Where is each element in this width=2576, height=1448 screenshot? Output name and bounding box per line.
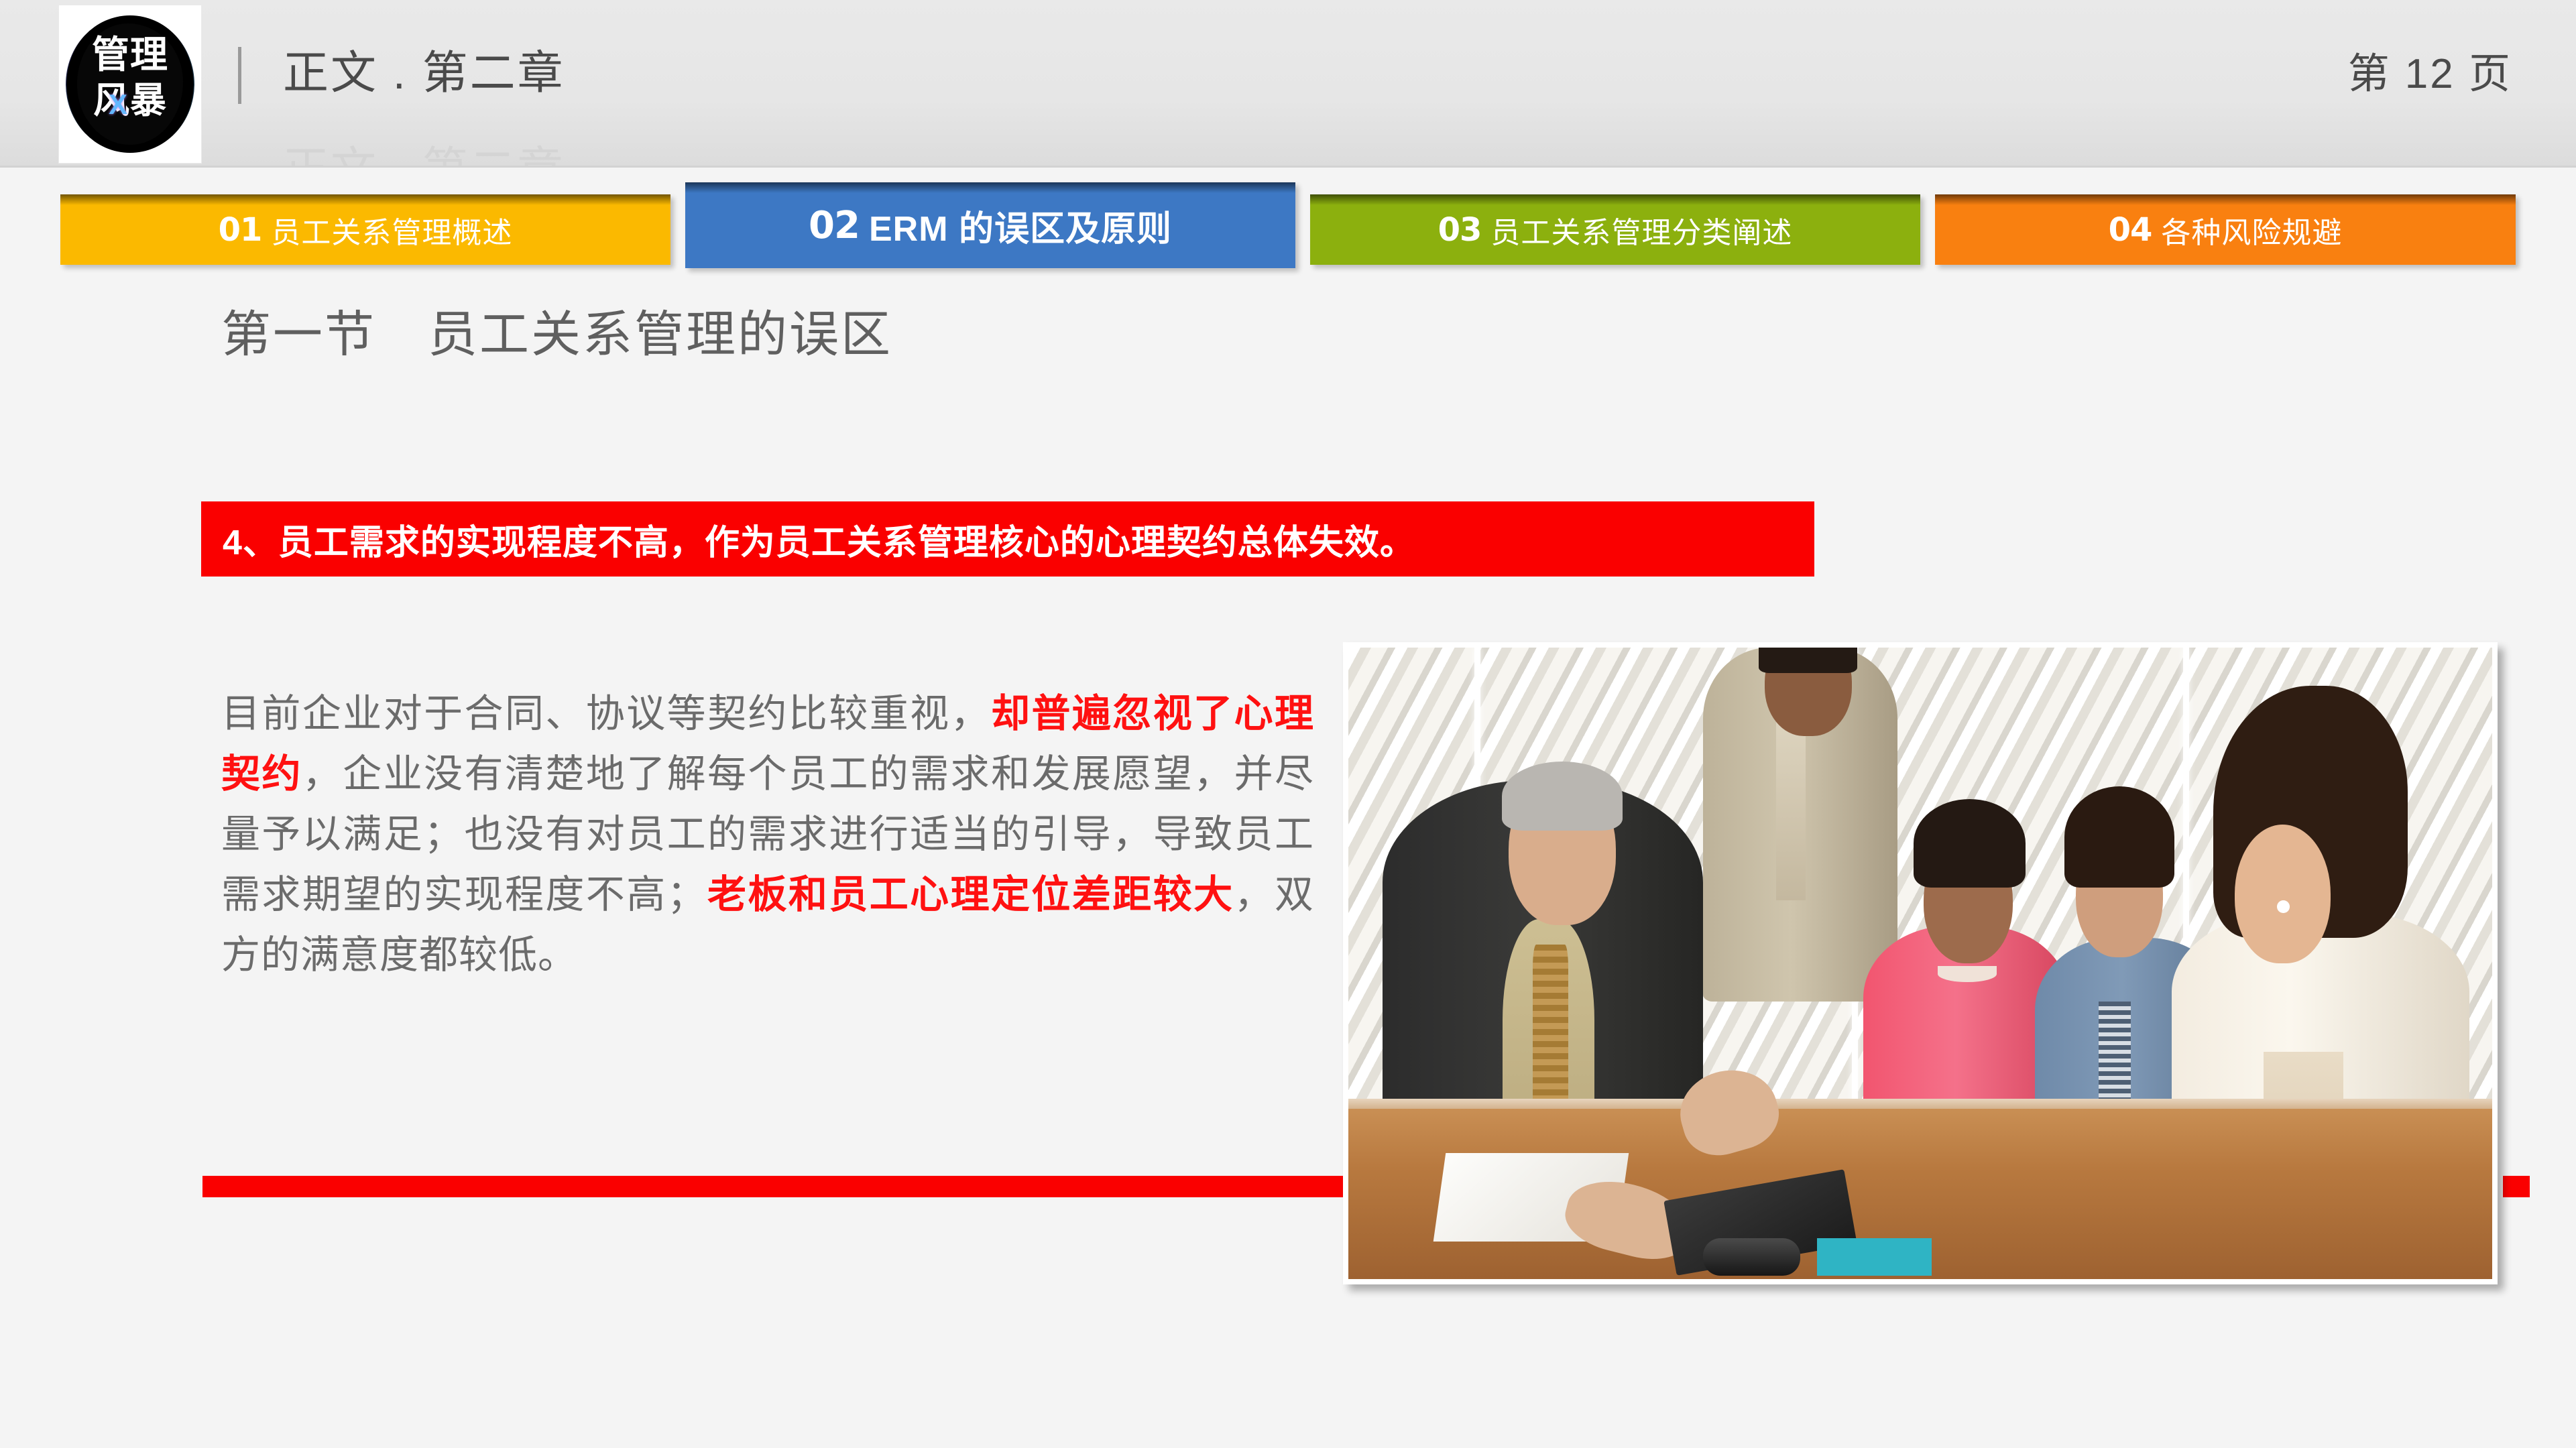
body-paragraph: 目前企业对于合同、协议等契约比较重视，却普遍忽视了心理契约，企业没有清楚地了解每…: [221, 684, 1314, 985]
tab-employee-relations-overview[interactable]: 01 员工关系管理概述: [60, 194, 670, 265]
logo-text-line1: 管理: [66, 37, 194, 74]
tab-number: 02: [809, 204, 860, 247]
teal-notepad: [1817, 1238, 1932, 1276]
tab-number: 03: [1438, 211, 1482, 249]
logo-x-mark-icon: X: [109, 90, 131, 117]
earring: [2277, 900, 2290, 913]
tab-risk-avoidance[interactable]: 04 各种风险规避: [1935, 194, 2516, 265]
tab-erm-pitfalls-principles[interactable]: 02 ERM 的误区及原则: [685, 182, 1295, 268]
header-divider: [238, 47, 241, 104]
tab-label: 各种风险规避: [2161, 208, 2342, 251]
header-title-ghost: 正文 . 第二章: [283, 146, 565, 168]
meeting-photo-frame: [1343, 642, 2498, 1284]
tab-number: 01: [219, 211, 262, 249]
body-text-highlight: 老板和员工心理定位差距较大: [707, 873, 1234, 916]
necktie-khaki: [1776, 711, 1806, 900]
slide-header: 管理 风暴 X 正文 . 第二章 正文 . 第二章 第 12 页: [0, 0, 2576, 168]
meeting-photo: [1348, 648, 2492, 1279]
body-text-run: 目前企业对于合同、协议等契约比较重视，: [221, 692, 991, 735]
tab-label: 员工关系管理分类阐述: [1490, 208, 1792, 251]
section-title: 第一节 员工关系管理的误区: [221, 305, 892, 365]
hair-standing-khaki: [1759, 648, 1857, 673]
head-seated-cream: [2235, 825, 2331, 963]
logo-circle-icon: 管理 风暴 X: [66, 15, 194, 153]
chapter-tabstrip: 01 员工关系管理概述 02 ERM 的误区及原则 03 员工关系管理分类阐述 …: [0, 168, 2576, 268]
tab-classification-explained[interactable]: 03 员工关系管理分类阐述: [1310, 194, 1920, 265]
tab-label: ERM 的误区及原则: [869, 200, 1172, 251]
page-number-label: 第 12 页: [2348, 54, 2512, 95]
bottom-rule-right: [2503, 1176, 2530, 1197]
header-title: 正文 . 第二章: [283, 50, 565, 96]
bottom-rule-left: [202, 1176, 1346, 1197]
mobile-phone: [1703, 1238, 1800, 1276]
tab-label: 员工关系管理概述: [271, 208, 512, 251]
point-banner-text: 4、员工需求的实现程度不高，作为员工关系管理核心的心理契约总体失效。: [201, 514, 1415, 564]
brand-logo[interactable]: 管理 风暴 X: [59, 5, 201, 163]
hair-seated-blue: [2064, 786, 2174, 888]
tab-number: 04: [2109, 211, 2152, 249]
point-banner: 4、员工需求的实现程度不高，作为员工关系管理核心的心理契约总体失效。: [201, 501, 1814, 577]
hair-seated-pink: [1914, 799, 2026, 888]
hair-speaker: [1502, 762, 1623, 831]
